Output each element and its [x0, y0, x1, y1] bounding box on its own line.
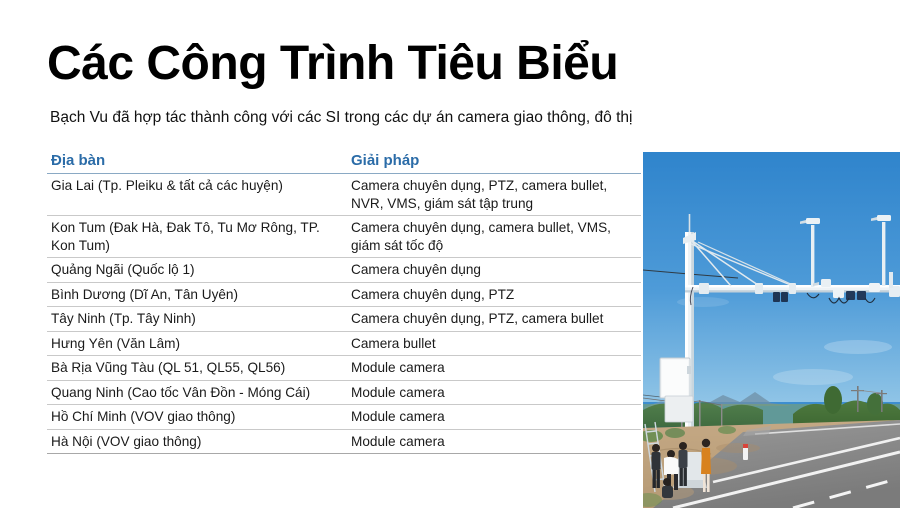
gantry-photo-illustration: [643, 152, 900, 508]
table-body: Gia Lai (Tp. Pleiku & tất cả các huyện)C…: [47, 174, 641, 454]
cell-solution: Camera chuyên dụng: [347, 258, 641, 283]
cell-area: Hưng Yên (Văn Lâm): [47, 331, 347, 356]
cell-solution: Camera chuyên dụng, PTZ: [347, 282, 641, 307]
column-header-solution: Giải pháp: [347, 152, 641, 174]
table-row: Hưng Yên (Văn Lâm)Camera bullet: [47, 331, 641, 356]
table-row: Quảng Ngãi (Quốc lộ 1)Camera chuyên dụng: [47, 258, 641, 283]
cell-area: Quang Ninh (Cao tốc Vân Đồn - Móng Cái): [47, 380, 347, 405]
projects-table-container: Địa bàn Giải pháp Gia Lai (Tp. Pleiku & …: [47, 152, 641, 454]
table-row: Hồ Chí Minh (VOV giao thông)Module camer…: [47, 405, 641, 430]
cell-area: Hồ Chí Minh (VOV giao thông): [47, 405, 347, 430]
table-row: Bà Rịa Vũng Tàu (QL 51, QL55, QL56)Modul…: [47, 356, 641, 381]
cell-area: Bình Dương (Dĩ An, Tân Uyên): [47, 282, 347, 307]
cell-solution: Module camera: [347, 356, 641, 381]
cell-solution: Camera chuyên dụng, camera bullet, VMS, …: [347, 216, 641, 258]
table-row: Bình Dương (Dĩ An, Tân Uyên)Camera chuyê…: [47, 282, 641, 307]
cell-area: Gia Lai (Tp. Pleiku & tất cả các huyện): [47, 174, 347, 216]
cell-solution: Camera chuyên dụng, PTZ, camera bullet, …: [347, 174, 641, 216]
cell-solution: Module camera: [347, 429, 641, 454]
table-row: Tây Ninh (Tp. Tây Ninh)Camera chuyên dụn…: [47, 307, 641, 332]
table-row: Hà Nội (VOV giao thông)Module camera: [47, 429, 641, 454]
cell-area: Kon Tum (Đak Hà, Đak Tô, Tu Mơ Rông, TP.…: [47, 216, 347, 258]
table-row: Quang Ninh (Cao tốc Vân Đồn - Móng Cái)M…: [47, 380, 641, 405]
page-subtitle: Bạch Vu đã hợp tác thành công với các SI…: [50, 108, 632, 128]
table-head: Địa bàn Giải pháp: [47, 152, 641, 174]
table-row: Kon Tum (Đak Hà, Đak Tô, Tu Mơ Rông, TP.…: [47, 216, 641, 258]
cell-solution: Module camera: [347, 405, 641, 430]
cell-solution: Camera bullet: [347, 331, 641, 356]
table-row: Gia Lai (Tp. Pleiku & tất cả các huyện)C…: [47, 174, 641, 216]
cell-area: Bà Rịa Vũng Tàu (QL 51, QL55, QL56): [47, 356, 347, 381]
cell-area: Tây Ninh (Tp. Tây Ninh): [47, 307, 347, 332]
cell-area: Hà Nội (VOV giao thông): [47, 429, 347, 454]
cell-solution: Camera chuyên dụng, PTZ, camera bullet: [347, 307, 641, 332]
project-photo: [643, 152, 900, 508]
table-header-row: Địa bàn Giải pháp: [47, 152, 641, 174]
projects-table: Địa bàn Giải pháp Gia Lai (Tp. Pleiku & …: [47, 152, 641, 454]
slide-canvas: Các Công Trình Tiêu Biểu Bạch Vu đã hợp …: [0, 0, 900, 508]
cell-area: Quảng Ngãi (Quốc lộ 1): [47, 258, 347, 283]
cell-solution: Module camera: [347, 380, 641, 405]
page-title: Các Công Trình Tiêu Biểu: [47, 36, 618, 92]
column-header-area: Địa bàn: [47, 152, 347, 174]
